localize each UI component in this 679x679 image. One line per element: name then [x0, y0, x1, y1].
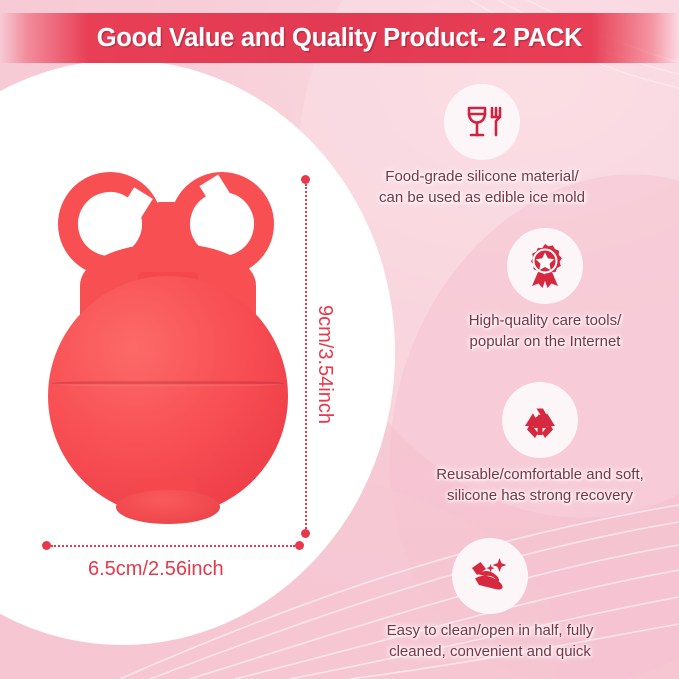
- dimension-dot-right: [295, 541, 304, 550]
- dimension-height-label: 9cm/3.54inch: [313, 305, 336, 424]
- banner-title: Good Value and Quality Product- 2 PACK: [97, 24, 582, 53]
- feature-item-reusable: Reusable/comfortable and soft, silicone …: [414, 382, 666, 506]
- header-banner: Good Value and Quality Product- 2 PACK: [0, 13, 679, 63]
- feature-label: Easy to clean/open in half, fully cleane…: [387, 621, 594, 662]
- product-infographic: Good Value and Quality Product- 2 PACK 9…: [0, 0, 679, 679]
- feature-label: High-quality care tools/ popular on the …: [469, 311, 622, 352]
- food-grade-glass-fork-icon: [444, 84, 520, 160]
- feature-item-high-quality: High-quality care tools/ popular on the …: [430, 228, 660, 352]
- feature-item-food-grade: Food-grade silicone material/ can be use…: [352, 84, 612, 208]
- product-seam-line: [51, 380, 285, 387]
- recycle-icon: [502, 382, 578, 458]
- quality-award-badge-icon: [507, 228, 583, 304]
- dimension-dot-left: [42, 541, 51, 550]
- feature-item-easy-to-clean: Easy to clean/open in half, fully cleane…: [340, 538, 640, 662]
- dimension-line-vertical: [305, 184, 307, 529]
- feature-label: Reusable/comfortable and soft, silicone …: [436, 465, 644, 506]
- dimension-dot-top: [301, 175, 310, 184]
- product-center-clasp: [146, 202, 190, 280]
- product-image: [42, 168, 294, 540]
- cleaning-hand-sparkle-icon: [452, 538, 528, 614]
- dimension-dot-bottom: [301, 529, 310, 538]
- feature-label: Food-grade silicone material/ can be use…: [379, 167, 585, 208]
- dimension-width-label: 6.5cm/2.56inch: [88, 558, 224, 581]
- product-suction-base: [116, 490, 220, 524]
- dimension-line-horizontal: [51, 545, 295, 547]
